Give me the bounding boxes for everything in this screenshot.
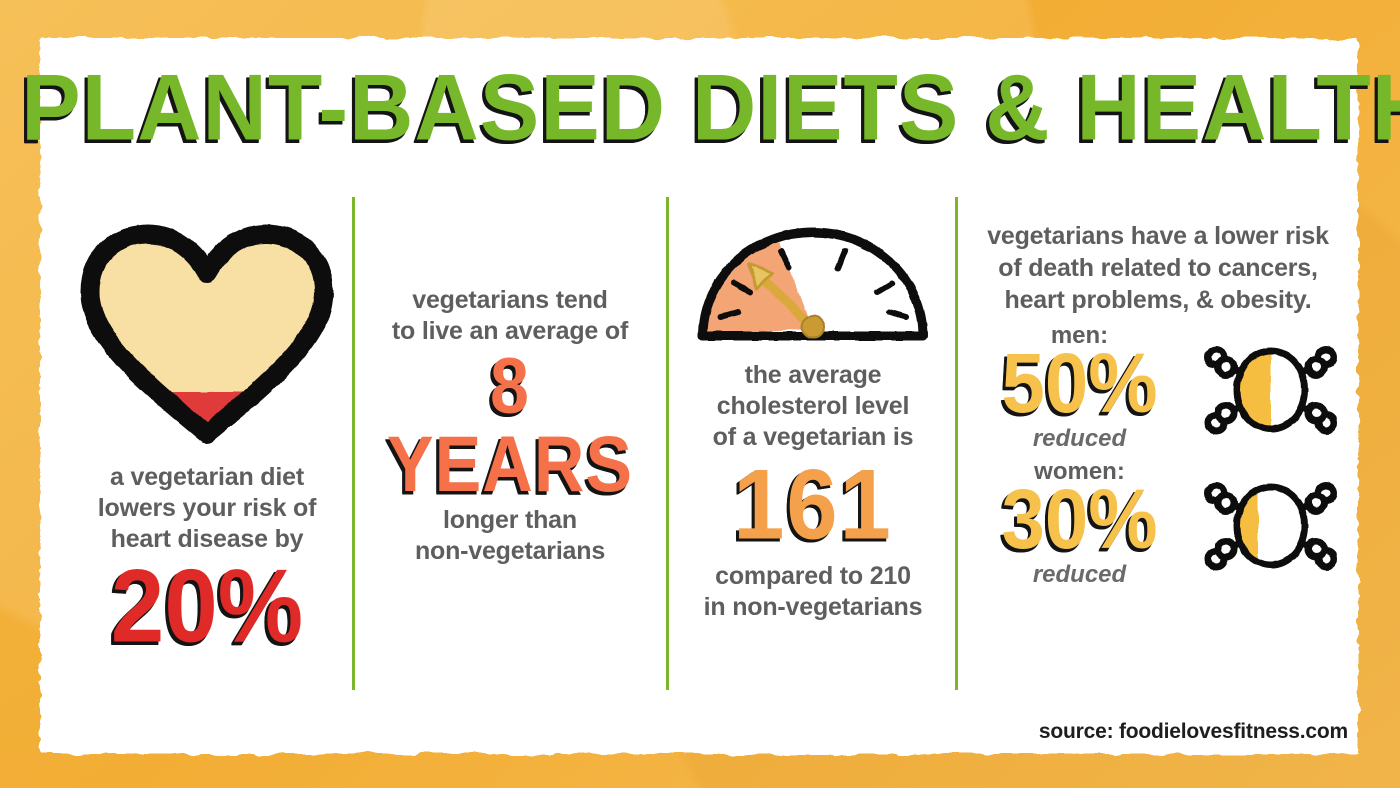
- cholesterol-stat-value: 161: [672, 455, 954, 554]
- lifespan-line-4: non-vegetarians: [360, 536, 660, 567]
- men-stat-value: 50%: [962, 341, 1197, 425]
- heart-caption-line-1: a vegetarian diet: [62, 462, 352, 493]
- gauge-icon: [693, 228, 933, 344]
- lifespan-caption-top: vegetarians tend to live an average of: [360, 285, 660, 347]
- heart-icon: [82, 225, 332, 440]
- mortality-line-3: heart problems, & obesity.: [962, 284, 1354, 316]
- cholesterol-caption-top: the average cholesterol level of a veget…: [672, 360, 954, 453]
- skull-crossbones-icon-men: [1196, 342, 1346, 438]
- stat-row-men: men: 50% reduced: [962, 322, 1354, 452]
- cholesterol-caption-bottom: compared to 210 in non-vegetarians: [672, 561, 954, 623]
- column-mortality: vegetarians have a lower risk of death r…: [962, 220, 1354, 588]
- skull-crossbones-icon-women: [1196, 478, 1346, 574]
- column-lifespan: vegetarians tend to live an average of 8…: [360, 285, 660, 567]
- lifespan-caption-bottom: longer than non-vegetarians: [360, 505, 660, 567]
- column-divider-3: [955, 197, 958, 690]
- men-stat-sub: reduced: [972, 425, 1187, 453]
- heart-caption-line-2: lowers your risk of: [62, 493, 352, 524]
- mortality-line-2: of death related to cancers,: [962, 252, 1354, 284]
- cholesterol-line-5: in non-vegetarians: [672, 592, 954, 623]
- women-stat-value: 30%: [962, 477, 1197, 561]
- cholesterol-line-2: cholesterol level: [672, 391, 954, 422]
- lifespan-stat-value: 8 YEARS: [360, 347, 660, 504]
- heart-stat-value: 20%: [62, 555, 352, 659]
- skull-fill-men: [1237, 351, 1271, 429]
- infographic-canvas: PLANT-BASED DIETS & HEALTH a vegetarian …: [0, 0, 1400, 788]
- lifespan-line-1: vegetarians tend: [360, 285, 660, 316]
- column-heart-risk: a vegetarian diet lowers your risk of he…: [62, 215, 352, 655]
- column-divider-2: [666, 197, 669, 690]
- mortality-caption: vegetarians have a lower risk of death r…: [962, 220, 1354, 316]
- cholesterol-line-3: of a vegetarian is: [672, 422, 954, 453]
- cholesterol-line-4: compared to 210: [672, 561, 954, 592]
- column-cholesterol: the average cholesterol level of a veget…: [672, 228, 954, 623]
- lifespan-line-3: longer than: [360, 505, 660, 536]
- women-stat-sub: reduced: [972, 561, 1187, 589]
- stat-row-women: women: 30% reduced: [962, 458, 1354, 588]
- column-divider-1: [352, 197, 355, 690]
- cholesterol-line-1: the average: [672, 360, 954, 391]
- mortality-line-1: vegetarians have a lower risk: [962, 220, 1354, 252]
- page-title: PLANT-BASED DIETS & HEALTH: [21, 60, 1388, 154]
- heart-caption: a vegetarian diet lowers your risk of he…: [62, 462, 352, 555]
- source-credit: source: foodielovesfitness.com: [1039, 720, 1348, 744]
